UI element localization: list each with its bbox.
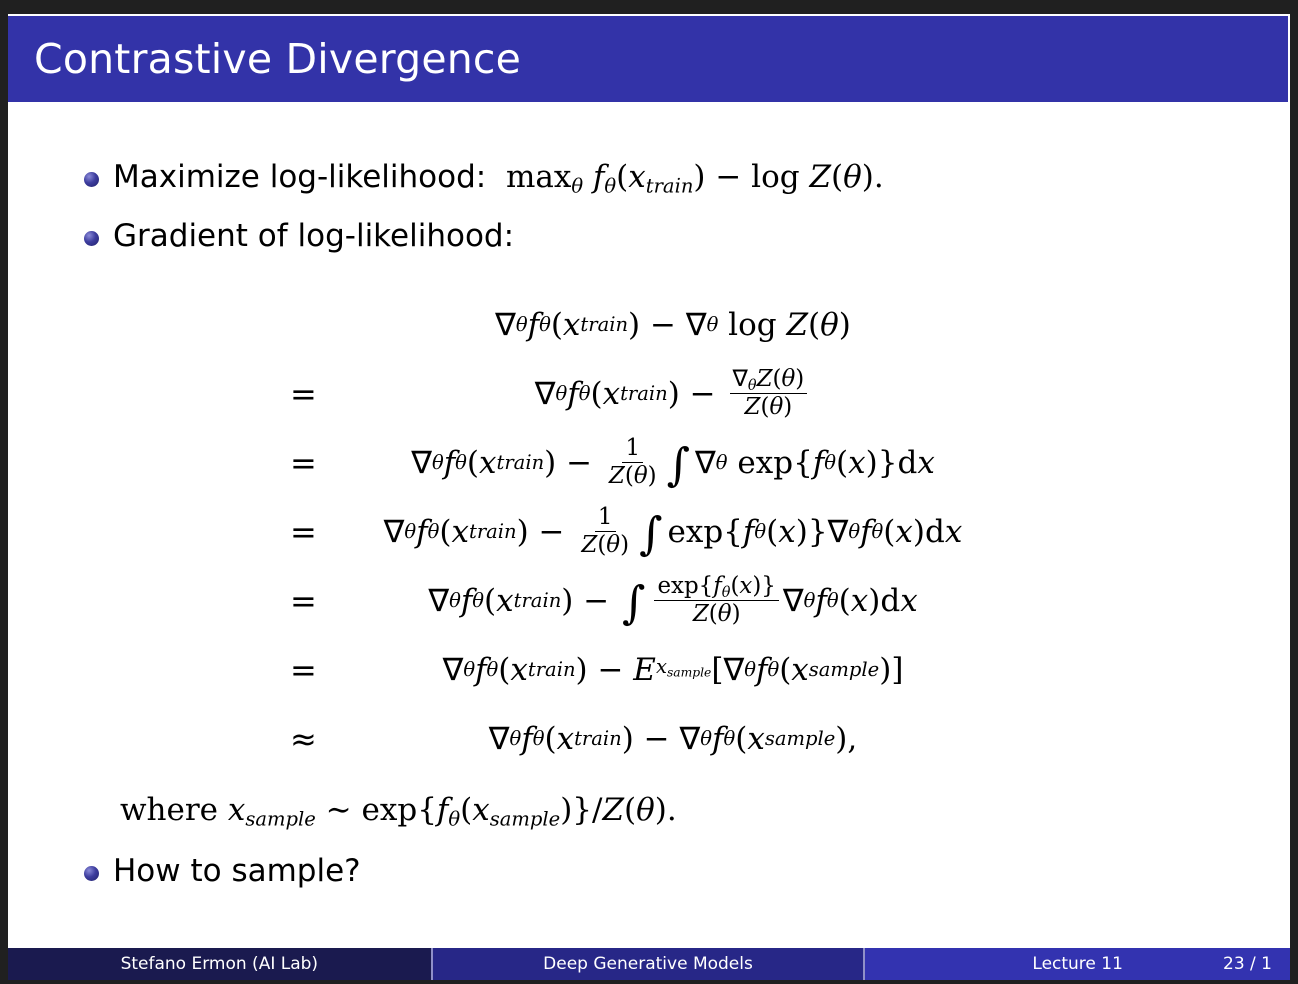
integral-icon: ∫ xyxy=(622,576,645,629)
equation-body-2: ∇θfθ(xtrain) − ∇θZ(θ)Z(θ) xyxy=(336,367,1290,420)
maximize-prefix-text: Maximize log-likelihood: xyxy=(113,159,486,195)
bullet-item-maximize: Maximize log-likelihood: maxθ fθ(xtrain)… xyxy=(84,160,884,196)
bullet-item-how-to-sample-label: How to sample? xyxy=(113,854,361,890)
slide-title-bar: Contrastive Divergence xyxy=(8,16,1288,102)
equation-body-7: ∇θfθ(xtrain) − ∇θfθ(xsample), xyxy=(336,721,1290,757)
equation-line-4: = ∇θfθ(xtrain) − 1Z(θ)∫exp{fθ(x)}∇θfθ(x)… xyxy=(8,497,1290,566)
bullet-dot-icon xyxy=(84,866,99,881)
integral-icon: ∫ xyxy=(639,507,662,560)
slide: Contrastive Divergence Maximize log-like… xyxy=(0,0,1298,984)
equation-body-6: ∇θfθ(xtrain) − Exsample[∇θfθ(xsample)] xyxy=(336,652,1290,688)
maximize-formula: maxθ fθ(xtrain) − log Z(θ). xyxy=(506,159,884,195)
integral-icon: ∫ xyxy=(667,438,690,491)
equation-block: ∇θfθ(xtrain) − ∇θ log Z(θ) = ∇θfθ(xtrain… xyxy=(8,290,1290,773)
bullet-dot-icon xyxy=(84,231,99,246)
fraction-gradZ-over-Z: ∇θZ(θ)Z(θ) xyxy=(730,367,808,420)
equation-line-5: = ∇θfθ(xtrain) − ∫exp{fθ(x)}Z(θ)∇θfθ(x)d… xyxy=(8,566,1290,635)
fraction-one-over-Z: 1Z(θ) xyxy=(578,505,632,558)
equation-relation-4: = xyxy=(290,513,336,551)
equation-body-3: ∇θfθ(xtrain) − 1Z(θ)∫∇θ exp{fθ(x)}dx xyxy=(336,436,1290,489)
slide-content: Maximize log-likelihood: maxθ fθ(xtrain)… xyxy=(8,102,1290,940)
equation-line-7: ≈ ∇θfθ(xtrain) − ∇θfθ(xsample), xyxy=(8,704,1290,773)
equation-line-2: = ∇θfθ(xtrain) − ∇θZ(θ)Z(θ) xyxy=(8,359,1290,428)
footer-course: Deep Generative Models xyxy=(433,948,864,980)
equation-relation-3: = xyxy=(290,444,336,482)
where-clause: where xsample ∼ exp{fθ(xsample)}/Z(θ). xyxy=(120,792,677,828)
equation-line-3: = ∇θfθ(xtrain) − 1Z(θ)∫∇θ exp{fθ(x)}dx xyxy=(8,428,1290,497)
bullet-dot-icon xyxy=(84,172,99,187)
bullet-item-how-to-sample: How to sample? xyxy=(84,854,361,890)
bullet-item-gradient-label: Gradient of log-likelihood: xyxy=(113,219,514,255)
slide-footer: Stefano Ermon (AI Lab) Deep Generative M… xyxy=(8,948,1290,980)
bullet-item-maximize-label: Maximize log-likelihood: maxθ fθ(xtrain)… xyxy=(113,160,884,196)
equation-body-5: ∇θfθ(xtrain) − ∫exp{fθ(x)}Z(θ)∇θfθ(x)dx xyxy=(336,574,1290,627)
equation-line-1: ∇θfθ(xtrain) − ∇θ log Z(θ) xyxy=(8,290,1290,359)
equation-body-1: ∇θfθ(xtrain) − ∇θ log Z(θ) xyxy=(336,307,1290,343)
fraction-one-over-Z: 1Z(θ) xyxy=(606,436,660,489)
equation-relation-7: ≈ xyxy=(290,720,336,758)
fraction-exp-over-Z: exp{fθ(x)}Z(θ) xyxy=(654,574,778,627)
equation-relation-6: = xyxy=(290,651,336,689)
page-title: Contrastive Divergence xyxy=(8,39,521,80)
footer-author: Stefano Ermon (AI Lab) xyxy=(8,948,431,980)
footer-lecture: Lecture 11 xyxy=(1032,954,1123,974)
where-keyword: where xyxy=(120,792,218,828)
equation-line-6: = ∇θfθ(xtrain) − Exsample[∇θfθ(xsample)] xyxy=(8,635,1290,704)
footer-lecture-and-page: Lecture 11 23 / 1 xyxy=(865,948,1290,980)
bullet-item-gradient: Gradient of log-likelihood: xyxy=(84,219,514,255)
equation-relation-2: = xyxy=(290,375,336,413)
footer-page-number: 23 / 1 xyxy=(1223,954,1272,974)
equation-body-4: ∇θfθ(xtrain) − 1Z(θ)∫exp{fθ(x)}∇θfθ(x)dx xyxy=(336,505,1290,558)
equation-relation-5: = xyxy=(290,582,336,620)
